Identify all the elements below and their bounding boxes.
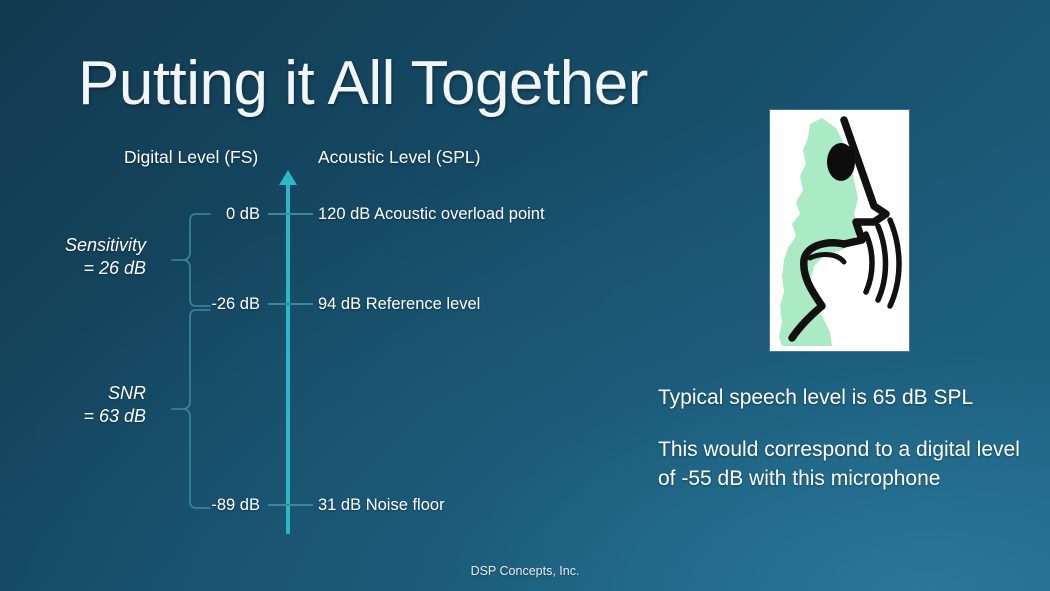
span-brace-snr: SNR = 63 dB bbox=[60, 308, 192, 510]
speaking-head-illustration bbox=[770, 110, 909, 351]
footer-company: DSP Concepts, Inc. bbox=[0, 564, 1050, 578]
span-brace-sensitivity: Sensitivity = 26 dB bbox=[60, 212, 192, 308]
column-header-digital: Digital Level (FS) bbox=[124, 147, 258, 168]
span-label-snr-line2: = 63 dB bbox=[83, 405, 146, 428]
span-label-snr: SNR = 63 dB bbox=[83, 382, 146, 428]
level-acoustic-value: 31 dB Noise floor bbox=[318, 493, 445, 517]
curly-brace-icon bbox=[170, 308, 212, 510]
slide-canvas: Putting it All Together Digital Level (F… bbox=[0, 0, 1050, 591]
span-label-sensitivity-line1: Sensitivity bbox=[65, 235, 146, 255]
level-axis bbox=[286, 182, 290, 534]
speaking-head-icon bbox=[770, 110, 909, 351]
level-tick bbox=[268, 213, 313, 215]
level-acoustic-value: 94 dB Reference level bbox=[318, 292, 480, 316]
column-header-acoustic: Acoustic Level (SPL) bbox=[318, 147, 480, 168]
level-tick bbox=[268, 303, 313, 305]
level-tick bbox=[268, 504, 313, 506]
level-acoustic-value: 120 dB Acoustic overload point bbox=[318, 202, 545, 226]
page-title: Putting it All Together bbox=[78, 48, 648, 119]
note-digital-level: This would correspond to a digital level… bbox=[658, 435, 1028, 493]
note-speech-level: Typical speech level is 65 dB SPL bbox=[658, 383, 973, 412]
span-label-snr-line1: SNR bbox=[108, 383, 146, 403]
curly-brace-icon bbox=[170, 212, 212, 308]
span-label-sensitivity-line2: = 26 dB bbox=[65, 257, 146, 280]
span-label-sensitivity: Sensitivity = 26 dB bbox=[65, 234, 146, 280]
